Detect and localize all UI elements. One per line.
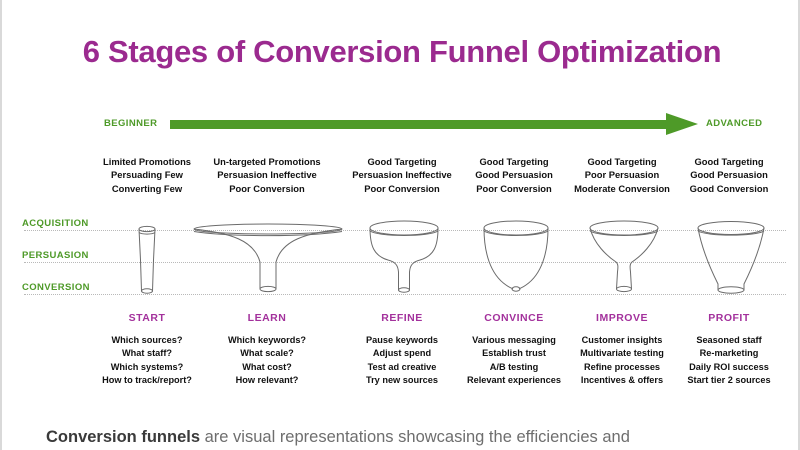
funnel-wide-bowl-thin-stem [365,200,443,310]
bullet-line: What scale? [192,347,342,360]
stage-label-start[interactable]: START [77,312,217,324]
bullet-line: Daily ROI success [654,361,800,374]
column-header-line: Un-targeted Promotions [197,155,337,168]
caption-rest: are visual representations showcasing th… [200,428,630,446]
stage-label-profit[interactable]: PROFIT [659,312,799,324]
funnel-deep-bowl-pinched-tip [477,200,555,310]
column-header-line: Good Targeting [659,155,799,168]
funnel-very-wide-thin-stem [190,200,346,310]
column-header-line: Converting Few [77,182,217,195]
funnel-cone-medium-stem [585,200,663,310]
progress-arrow-bar [170,120,670,129]
right-arrow-icon [666,113,698,135]
funnel-diagram-band: ACQUISITION PERSUASION CONVERSION [2,200,800,310]
caption: Conversion funnels are visual representa… [46,428,766,447]
progress-start-label: BEGINNER [104,118,157,129]
column-header-line: Poor Conversion [197,182,337,195]
bullet-line: Which keywords? [192,334,342,347]
column-header-line: Persuading Few [77,168,217,181]
column-bullets-6: Seasoned staffRe-marketingDaily ROI succ… [654,334,800,387]
column-header-1: Limited PromotionsPersuading FewConverti… [77,155,217,195]
page-title: 6 Stages of Conversion Funnel Optimizati… [2,34,800,70]
bullet-line: Start tier 2 sources [654,374,800,387]
bullet-line: Re-marketing [654,347,800,360]
progress-end-label: ADVANCED [706,118,762,129]
column-header-2: Un-targeted PromotionsPersuasion Ineffec… [197,155,337,195]
column-header-line: Good Conversion [659,182,799,195]
stage-label-learn[interactable]: LEARN [197,312,337,324]
progress-arrow-row: BEGINNER ADVANCED [2,116,800,138]
funnel-narrow-tube [120,200,174,310]
funnel-wide-cone-wide-outlet [692,200,770,310]
column-header-line: Good Persuasion [659,168,799,181]
column-header-6: Good TargetingGood PersuasionGood Conver… [659,155,799,195]
column-header-line: Limited Promotions [77,155,217,168]
axis-label-acquisition: ACQUISITION [22,218,89,229]
slide-canvas: 6 Stages of Conversion Funnel Optimizati… [0,0,800,450]
axis-label-conversion: CONVERSION [22,282,90,293]
column-bullets-2: Which keywords?What scale?What cost?How … [192,334,342,387]
bullet-line: What cost? [192,361,342,374]
column-header-line: Persuasion Ineffective [197,168,337,181]
bullet-line: How relevant? [192,374,342,387]
bullet-line: Seasoned staff [654,334,800,347]
axis-label-persuasion: PERSUASION [22,250,89,261]
caption-bold-lead: Conversion funnels [46,428,200,446]
